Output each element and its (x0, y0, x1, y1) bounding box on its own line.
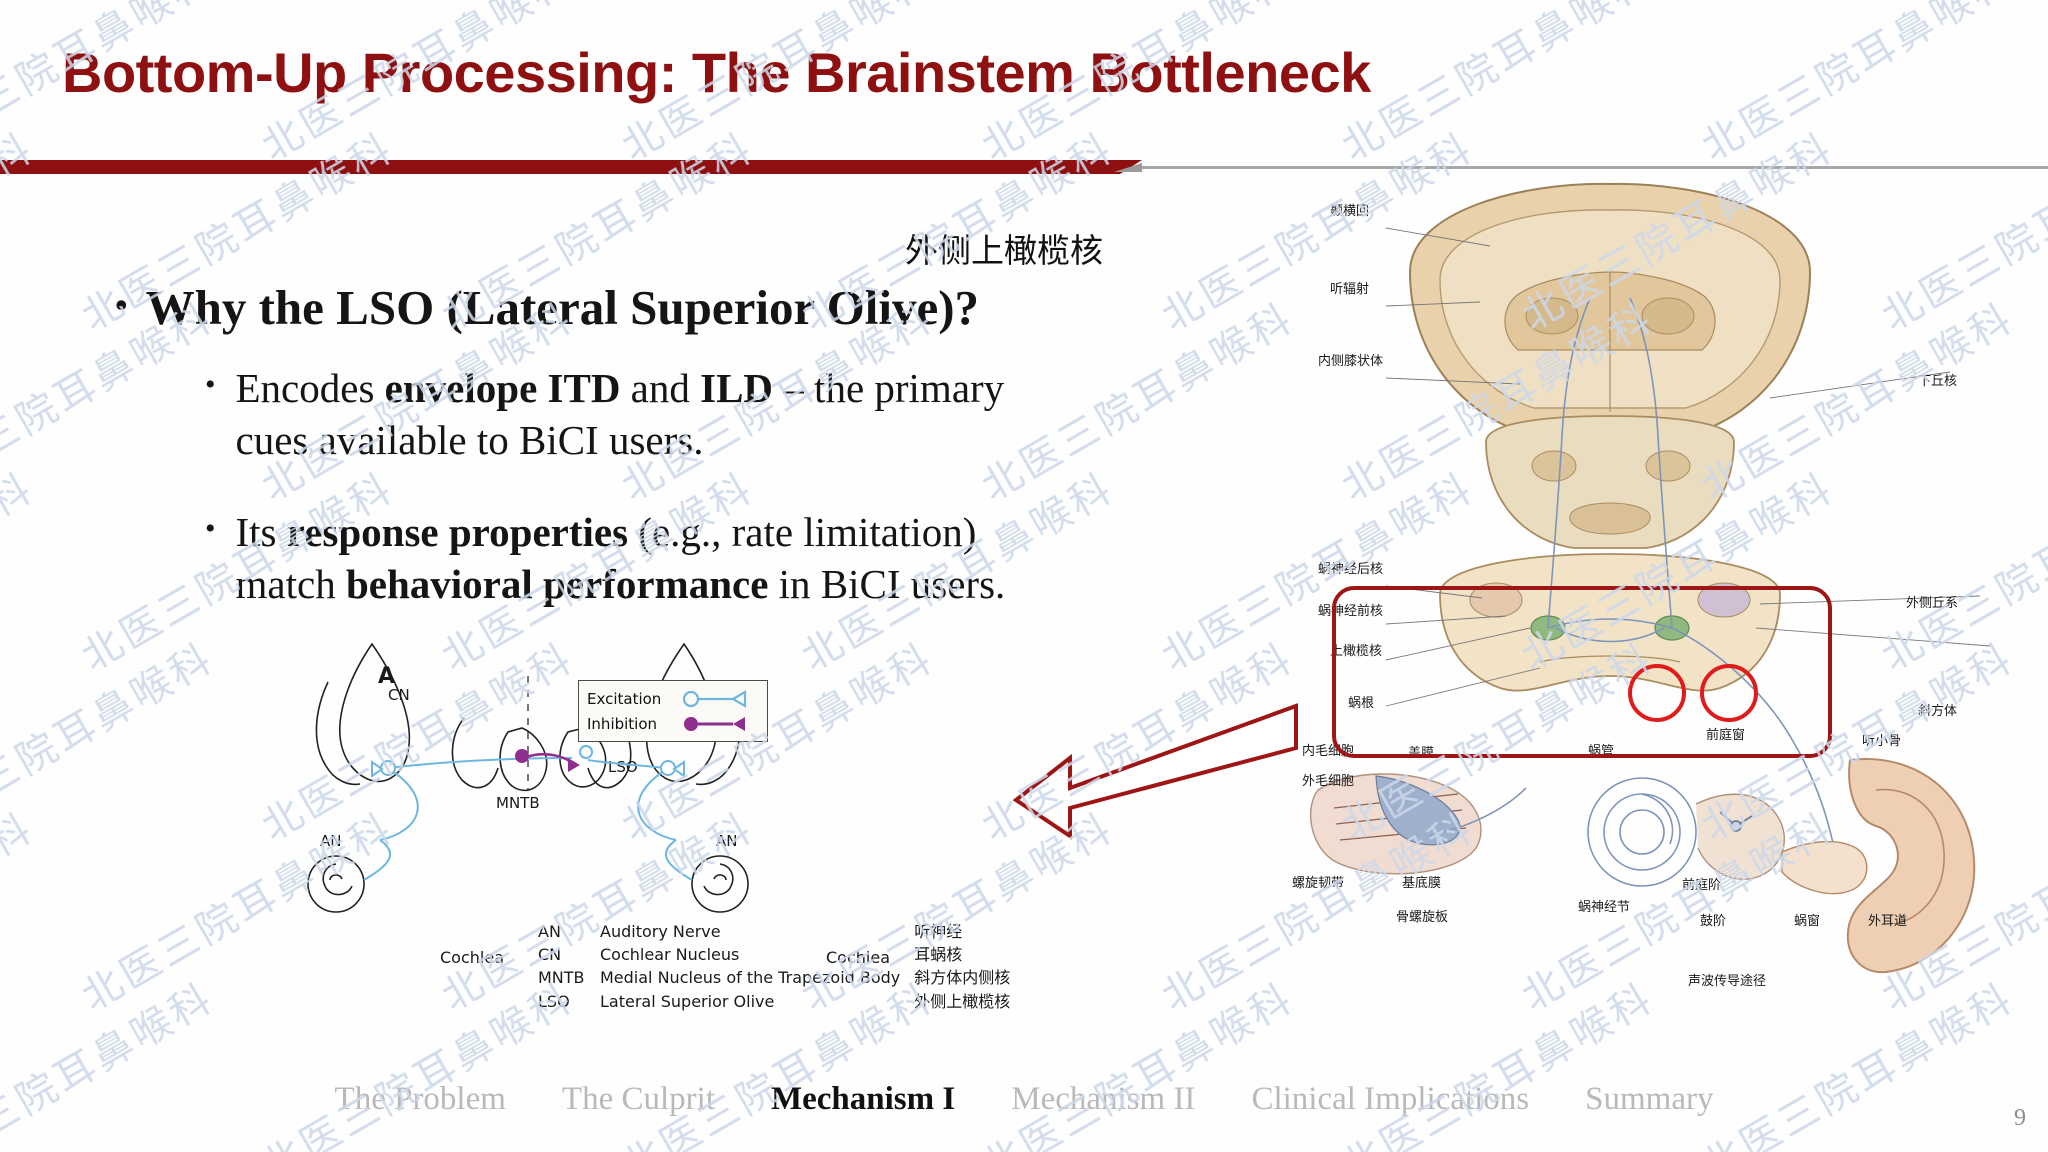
abbrev-chinese: 耳蜗核 (906, 943, 1016, 966)
header-rule-red (0, 160, 1120, 174)
label-cochlea-left: Cochlea (440, 948, 504, 967)
label-an-left: AN (320, 832, 341, 850)
bullet-heading-text: Why the LSO (Lateral Superior Olive)? (146, 280, 979, 336)
abbrev-chinese: 斜方体内侧核 (906, 966, 1016, 989)
bullet-marker: • (205, 506, 216, 553)
header-rule-gray (1142, 166, 2048, 169)
watermark-text: 北医三院耳鼻喉科 (429, 1136, 763, 1152)
anno-ear-canal: 外耳道 (1868, 910, 1907, 929)
nav-item-mechanism-ii[interactable]: Mechanism II (1011, 1081, 1195, 1118)
brainstem-highlight-box (1332, 586, 1832, 758)
body-text: Encodes (236, 365, 385, 411)
body-text: in BiCI users. (768, 561, 1005, 607)
lso-circle-left-icon (1628, 664, 1686, 722)
abbrev-row: CNCochlear Nucleus耳蜗核 (538, 943, 1016, 966)
watermark-text: 北医三院耳鼻喉科 (0, 796, 43, 1022)
watermark-text: 北医三院耳鼻喉科 (69, 1136, 403, 1152)
cochlea-right-spiral (692, 856, 748, 912)
abbrev-chinese: 外侧上橄榄核 (906, 990, 1016, 1013)
anno-scala-vestibuli: 前庭阶 (1682, 874, 1721, 893)
label-an-right: AN (716, 832, 737, 850)
abbrev-english: Lateral Superior Olive (600, 990, 906, 1013)
legend-label-excitation: Excitation (587, 690, 673, 708)
abbrev-chinese: 听神经 (906, 920, 1016, 943)
abbrev-key: AN (538, 920, 600, 943)
legend-label-inhibition: Inhibition (587, 715, 673, 733)
watermark-text: 北医三院耳鼻喉科 (1509, 1136, 1843, 1152)
cerebrum-section (1410, 184, 1810, 432)
abbrev-rows: ANAuditory Nerve听神经CNCochlear Nucleus耳蜗核… (538, 920, 1016, 1013)
watermark-text: 北医三院耳鼻喉科 (969, 966, 1303, 1152)
slide-canvas: Bottom-Up Processing: The Brainstem Bott… (0, 0, 2048, 1152)
bullet-heading: • Why the LSO (Lateral Superior Olive)? (115, 280, 1025, 336)
abbrev-english: Auditory Nerve (600, 920, 906, 943)
anno-medial-geniculate: 内侧膝状体 (1318, 350, 1383, 369)
pointer-arrow-icon (1010, 690, 1300, 850)
bullet-marker: • (115, 280, 128, 330)
anno-spiral-ligament: 螺旋韧带 (1292, 872, 1344, 891)
chinese-caption-lso: 外侧上橄榄核 (905, 224, 1103, 272)
midbrain-section (1486, 416, 1734, 548)
excitation-symbol-icon (681, 690, 751, 708)
watermark-text: 北医三院耳鼻喉科 (249, 966, 583, 1152)
anno-spiral-ganglion: 蜗神经节 (1578, 896, 1630, 915)
slide-header: Bottom-Up Processing: The Brainstem Bott… (0, 0, 2048, 168)
anno-sound-conduction-path: 声波传导途径 (1688, 970, 1766, 989)
legend-row-excitation: Excitation (587, 686, 759, 711)
emphasis-text: envelope ITD (385, 365, 621, 411)
cn-left-shape (340, 644, 410, 781)
abbrev-row: LSOLateral Superior Olive外侧上橄榄核 (538, 990, 1016, 1013)
emphasis-text: behavioral performance (346, 561, 768, 607)
body-text: Its (236, 509, 287, 555)
soc-left-outline (452, 718, 498, 788)
watermark-text: 北医三院耳鼻喉科 (0, 1136, 43, 1152)
label-mntb: MNTB (496, 794, 540, 812)
abbrev-english: Cochlear Nucleus (600, 943, 906, 966)
abbrev-key: CN (538, 943, 600, 966)
watermark-text: 北医三院耳鼻喉科 (0, 456, 43, 682)
watermark-text: 北医三院耳鼻喉科 (0, 626, 223, 852)
cochlea-left-spiral (308, 856, 364, 912)
nav-item-the-problem[interactable]: The Problem (335, 1081, 506, 1118)
watermark-text: 北医三院耳鼻喉科 (1869, 1136, 2048, 1152)
anno-scala-tympani: 鼓阶 (1700, 910, 1726, 929)
lso-circle-right-icon (1700, 664, 1758, 722)
abbrev-key: MNTB (538, 966, 600, 989)
anno-trapezoid-body: 斜方体 (1918, 700, 1957, 719)
nav-item-summary[interactable]: Summary (1585, 1081, 1713, 1118)
anno-posterior-cochlear-nucleus: 蜗神经后核 (1318, 558, 1383, 577)
schematic-legend: Excitation Inhibition (578, 680, 768, 742)
watermark-text: 北医三院耳鼻喉科 (789, 1136, 1123, 1152)
bullet-marker: • (205, 362, 216, 409)
sub-bullet-1-text: Encodes envelope ITD and ILD – the prima… (236, 362, 1055, 467)
cochlea-middle-ear-inset (1588, 759, 1974, 972)
label-lso: LSO (608, 758, 638, 776)
schematic-panel-label: A (378, 664, 395, 689)
inhibitory-pathway (515, 749, 580, 772)
anno-lateral-lemniscus: 外侧丘系 (1906, 592, 1958, 611)
anno-acoustic-radiation: 听辐射 (1330, 278, 1369, 297)
anno-outer-hair-cell: 外毛细胞 (1302, 770, 1354, 789)
abbrev-english: Medial Nucleus of the Trapezoid Body (600, 966, 906, 989)
watermark-text: 北医三院耳鼻喉科 (0, 966, 223, 1152)
anno-round-window: 蜗窗 (1794, 910, 1820, 929)
abbrev-row: MNTBMedial Nucleus of the Trapezoid Body… (538, 966, 1016, 989)
watermark-text: 北医三院耳鼻喉科 (1149, 1136, 1483, 1152)
section-navigation[interactable]: The ProblemThe CulpritMechanism IMechani… (0, 1081, 2048, 1118)
body-text: and (620, 365, 700, 411)
anno-ossicles: 听小骨 (1862, 730, 1901, 749)
emphasis-text: response properties (287, 509, 628, 555)
anno-temporal-gyrus: 颞横回 (1330, 200, 1369, 219)
anno-basilar-membrane: 基底膜 (1402, 872, 1441, 891)
anno-inferior-colliculus: 下丘核 (1918, 370, 1957, 389)
sub-bullet-2: • Its response properties (e.g., rate li… (205, 506, 1055, 611)
schematic-abbreviation-list: ANAuditory Nerve听神经CNCochlear Nucleus耳蜗核… (538, 920, 1016, 1013)
legend-row-inhibition: Inhibition (587, 711, 759, 736)
inhibition-symbol-icon (681, 715, 751, 733)
page-title: Bottom-Up Processing: The Brainstem Bott… (62, 40, 1371, 105)
nav-item-mechanism-i[interactable]: Mechanism I (771, 1081, 955, 1118)
sub-bullet-1: • Encodes envelope ITD and ILD – the pri… (205, 362, 1055, 467)
nav-item-clinical-implications[interactable]: Clinical Implications (1251, 1081, 1529, 1118)
anno-osseous-spiral-lamina: 骨螺旋板 (1396, 906, 1448, 925)
emphasis-text: ILD (700, 365, 773, 411)
abbrev-row: ANAuditory Nerve听神经 (538, 920, 1016, 943)
abbrev-key: LSO (538, 990, 600, 1013)
page-number: 9 (2014, 1105, 2026, 1132)
nav-item-the-culprit[interactable]: The Culprit (562, 1081, 715, 1118)
sub-bullet-2-text: Its response properties (e.g., rate limi… (236, 506, 1055, 611)
